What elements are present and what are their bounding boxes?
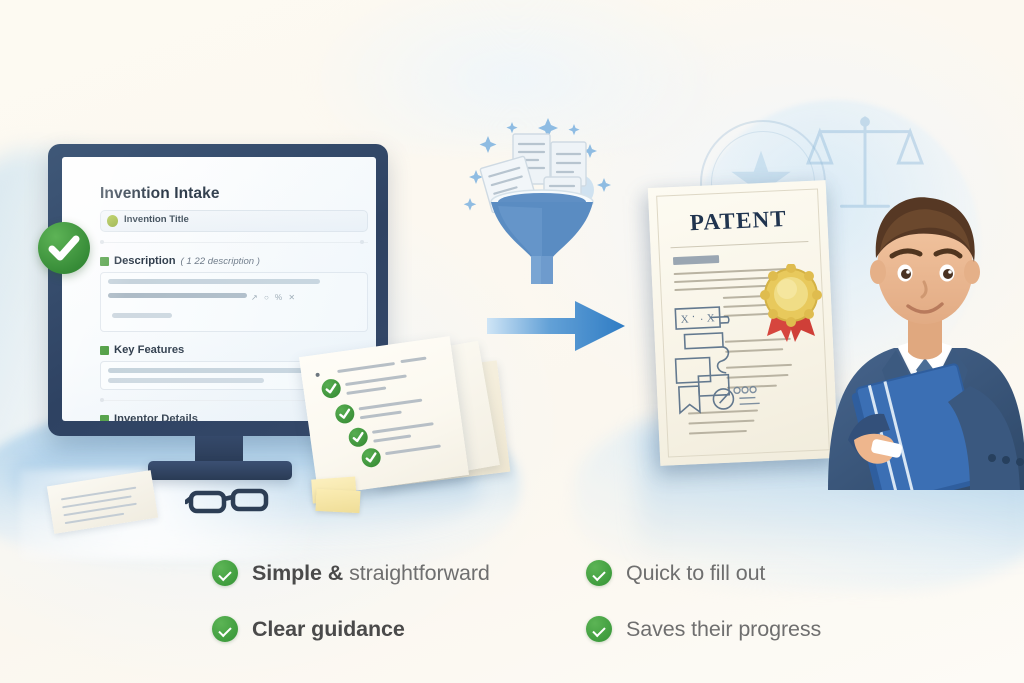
- sticky-note: [315, 489, 360, 513]
- eyeglasses-icon: [185, 485, 275, 517]
- caption-item: Quick to fill out: [586, 545, 821, 601]
- description-input[interactable]: ↗ ○ % ✕: [100, 272, 368, 332]
- monitor-base: [148, 461, 292, 480]
- inline-tool-icons: ↗ ○ % ✕: [251, 293, 297, 302]
- group-hint-text: ( 1 22 description ): [181, 256, 260, 267]
- green-square-icon: [100, 415, 109, 422]
- check-badge-icon: [586, 560, 612, 586]
- form-title: Invention Intake: [100, 185, 368, 203]
- green-square-icon: [100, 257, 109, 266]
- check-badge-icon: [212, 560, 238, 586]
- gold-award-ribbon-icon: [760, 264, 822, 342]
- green-square-icon: [100, 346, 109, 355]
- check-badge-icon: [212, 616, 238, 642]
- svg-text:⋅: ⋅: [691, 311, 695, 323]
- invention-title-label: Invention Title: [124, 214, 189, 225]
- caption-bold: Simple &: [252, 561, 343, 585]
- caption-item: Simple & straightforward: [212, 545, 490, 601]
- monitor-neck: [195, 436, 243, 464]
- group-label-description: Description ( 1 22 description ): [100, 255, 368, 267]
- caption-area: Simple & straightforward Clear guidance …: [0, 545, 1024, 665]
- form-divider: [100, 242, 368, 243]
- check-badge-icon: [586, 616, 612, 642]
- group-label-text: Inventor Details: [114, 413, 198, 421]
- checklist-paper-front: [299, 336, 469, 496]
- patent-attorney-figure: [820, 140, 1024, 490]
- documents-funnel-icon: [452, 108, 632, 288]
- caption-item: Saves their progress: [586, 601, 821, 657]
- caption-bold: Clear guidance: [252, 617, 405, 641]
- caption-text: Saves their progress: [626, 617, 821, 642]
- svg-text:·: ·: [700, 314, 704, 326]
- illustration-canvas: Invention Intake Invention Title Descrip…: [0, 0, 1024, 683]
- check-icon: [347, 427, 368, 448]
- svg-text:X: X: [706, 312, 715, 324]
- invention-title-field[interactable]: Invention Title: [100, 210, 368, 232]
- caption-column-right: Quick to fill out Saves their progress: [586, 545, 821, 657]
- group-label-text: Key Features: [114, 344, 184, 356]
- process-arrow-icon: [487, 299, 625, 353]
- caption-rest: straightforward: [343, 561, 490, 585]
- caption-text: Quick to fill out: [626, 561, 765, 586]
- check-icon: [38, 222, 90, 274]
- check-icon: [320, 378, 341, 399]
- caption-text: Simple & straightforward: [252, 561, 490, 586]
- verified-check-badge: [38, 222, 90, 274]
- group-label-text: Description: [114, 255, 176, 267]
- olive-dot-icon: [107, 215, 118, 227]
- caption-item: Clear guidance: [212, 601, 490, 657]
- svg-text:X: X: [681, 313, 690, 325]
- caption-column-left: Simple & straightforward Clear guidance: [212, 545, 490, 657]
- caption-rest: Quick to fill out: [626, 561, 765, 585]
- check-icon: [360, 447, 381, 468]
- caption-rest: Saves their progress: [626, 617, 821, 641]
- caption-text: Clear guidance: [252, 617, 405, 642]
- form-group-description: Description ( 1 22 description ) ↗ ○ % ✕: [100, 255, 368, 332]
- check-icon: [334, 403, 355, 424]
